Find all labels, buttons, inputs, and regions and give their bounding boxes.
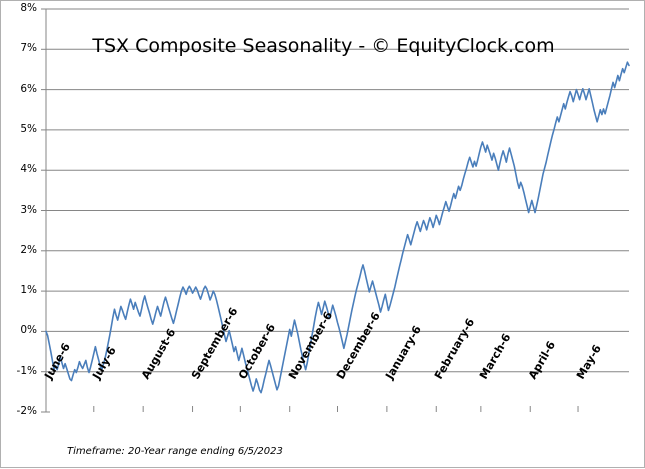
y-tick-label: 7%	[5, 42, 37, 54]
y-tick-label: 1%	[5, 284, 37, 296]
seasonality-chart: TSX Composite Seasonality - © EquityCloc…	[0, 0, 645, 468]
seasonality-line	[46, 62, 629, 392]
x-axis-ticks	[46, 406, 578, 412]
y-tick-label: 8%	[5, 2, 37, 14]
y-tick-label: 0%	[5, 324, 37, 336]
y-tick-label: -2%	[5, 405, 37, 417]
y-tick-label: 3%	[5, 204, 37, 216]
y-tick-label: 4%	[5, 163, 37, 175]
y-tick-label: 6%	[5, 83, 37, 95]
y-axis-ticks	[41, 9, 46, 412]
chart-canvas	[1, 1, 645, 469]
y-tick-label: 5%	[5, 123, 37, 135]
y-tick-label: -1%	[5, 365, 37, 377]
timeframe-footnote: Timeframe: 20-Year range ending 6/5/2023	[67, 446, 283, 457]
y-tick-label: 2%	[5, 244, 37, 256]
page-title: TSX Composite Seasonality - © EquityCloc…	[1, 35, 645, 57]
